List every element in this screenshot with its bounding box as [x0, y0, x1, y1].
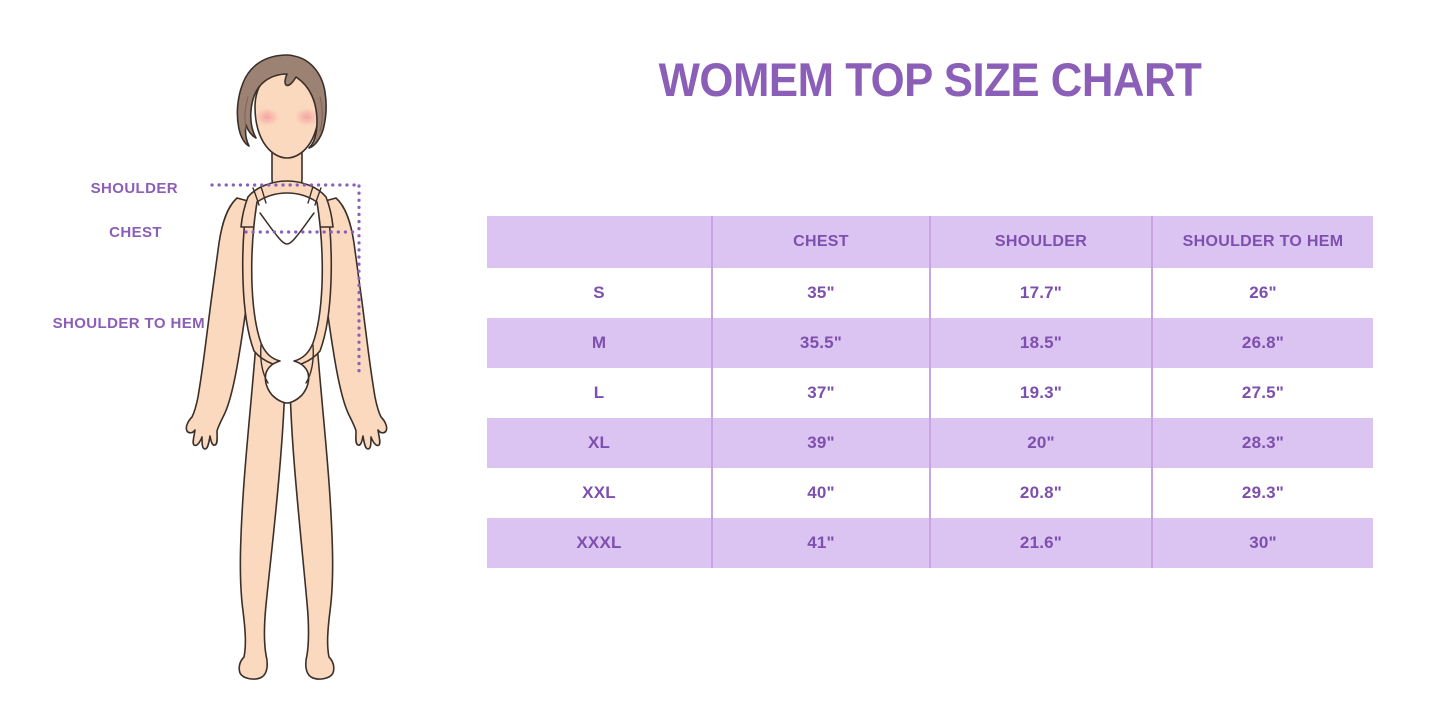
cell-shoulder: 20.8"	[930, 468, 1152, 518]
column-header-chest: CHEST	[712, 216, 930, 268]
table-row: XXL 40" 20.8" 29.3"	[487, 468, 1373, 518]
cell-shoulder-to-hem: 29.3"	[1152, 468, 1373, 518]
cell-size: XXL	[487, 468, 712, 518]
cell-size: XXXL	[487, 518, 712, 568]
cheek-right	[295, 108, 319, 126]
measure-label-shoulder: SHOULDER	[0, 180, 178, 197]
cell-shoulder: 17.7"	[930, 268, 1152, 318]
cell-shoulder-to-hem: 26"	[1152, 268, 1373, 318]
cell-shoulder: 19.3"	[930, 368, 1152, 418]
cell-shoulder-to-hem: 27.5"	[1152, 368, 1373, 418]
table-row: L 37" 19.3" 27.5"	[487, 368, 1373, 418]
cell-shoulder: 21.6"	[930, 518, 1152, 568]
cell-size: S	[487, 268, 712, 318]
table-row: XL 39" 20" 28.3"	[487, 418, 1373, 468]
column-header-shoulder-to-hem: SHOULDER TO HEM	[1152, 216, 1373, 268]
cheek-left	[255, 108, 279, 126]
table-row: S 35" 17.7" 26"	[487, 268, 1373, 318]
cell-size: M	[487, 318, 712, 368]
figure-panel: SHOULDER CHEST SHOULDER TO HEM	[0, 0, 470, 723]
cell-chest: 39"	[712, 418, 930, 468]
table-row: XXXL 41" 21.6" 30"	[487, 518, 1373, 568]
size-chart-page: WOMEM TOP SIZE CHART SHOULDER CHEST SHOU…	[0, 0, 1445, 723]
table-header-row: CHEST SHOULDER SHOULDER TO HEM	[487, 216, 1373, 268]
column-header-shoulder: SHOULDER	[930, 216, 1152, 268]
column-header-size	[487, 216, 712, 268]
size-chart-table: CHEST SHOULDER SHOULDER TO HEM S 35" 17.…	[487, 216, 1373, 568]
cell-shoulder-to-hem: 28.3"	[1152, 418, 1373, 468]
cell-chest: 35.5"	[712, 318, 930, 368]
cell-shoulder-to-hem: 30"	[1152, 518, 1373, 568]
female-croquis-illustration	[160, 45, 410, 695]
page-title: WOMEM TOP SIZE CHART	[512, 52, 1349, 107]
table-row: M 35.5" 18.5" 26.8"	[487, 318, 1373, 368]
cell-shoulder-to-hem: 26.8"	[1152, 318, 1373, 368]
cell-size: XL	[487, 418, 712, 468]
cell-chest: 40"	[712, 468, 930, 518]
cell-chest: 35"	[712, 268, 930, 318]
cell-shoulder: 20"	[930, 418, 1152, 468]
cell-shoulder: 18.5"	[930, 318, 1152, 368]
cell-size: L	[487, 368, 712, 418]
measure-label-chest: CHEST	[0, 224, 162, 241]
cell-chest: 37"	[712, 368, 930, 418]
cell-chest: 41"	[712, 518, 930, 568]
